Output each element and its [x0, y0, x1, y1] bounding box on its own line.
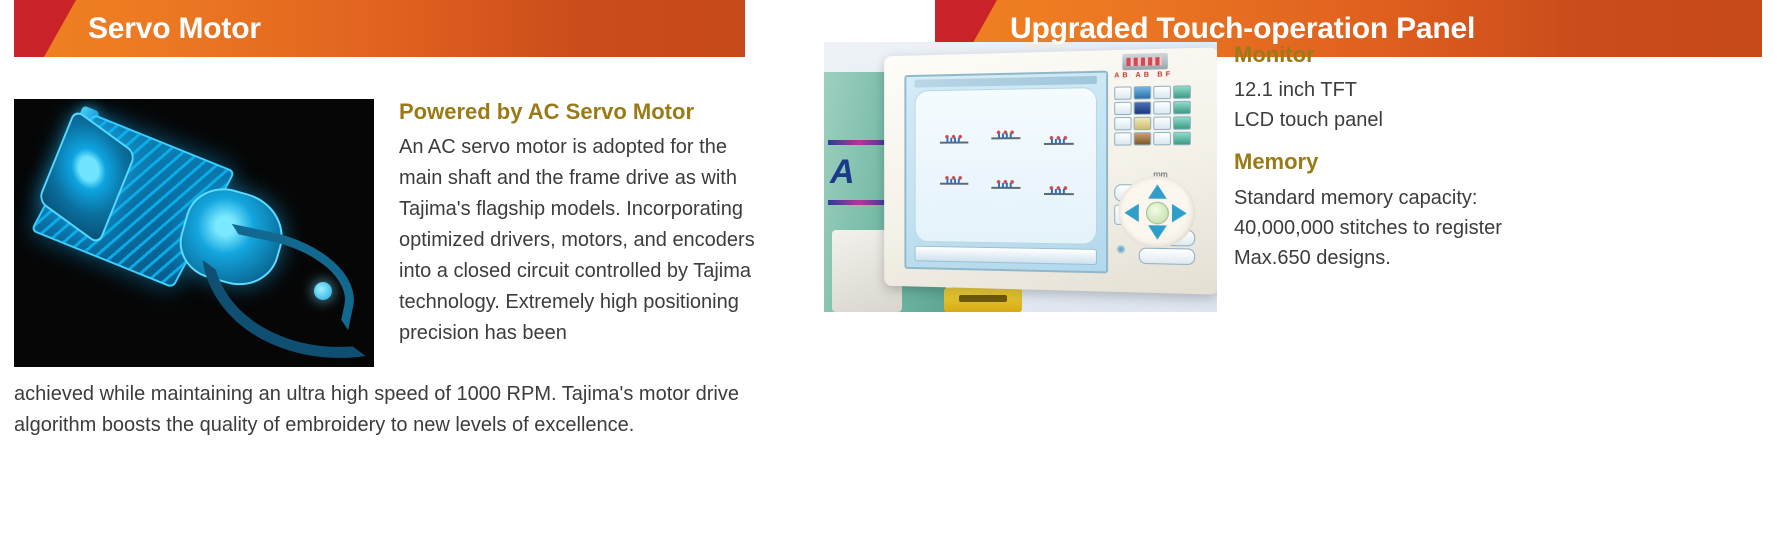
directional-pad[interactable]: [1118, 176, 1195, 248]
keypad-key[interactable]: [1134, 86, 1152, 100]
arrow-up-icon[interactable]: [1148, 184, 1167, 198]
keypad-key[interactable]: [1173, 101, 1191, 115]
snowflake-icon: ✺: [1116, 243, 1125, 256]
screen-stitch-icon: [991, 129, 1020, 145]
keypad-key[interactable]: [1173, 132, 1191, 146]
servo-motor-wrapped-paragraph: An AC servo motor is adopted for the mai…: [399, 132, 759, 349]
screen-status-bar: [915, 246, 1097, 265]
screen-stitch-icon: [1044, 135, 1074, 151]
servo-motor-heading: Powered by AC Servo Motor: [399, 99, 759, 124]
screen-stitch-icon: [1044, 185, 1074, 201]
machine-stripe-top: [828, 140, 890, 145]
keypad-key[interactable]: [1114, 102, 1131, 115]
banner-title-servo-motor: Servo Motor: [88, 0, 261, 57]
keypad-key[interactable]: [1134, 132, 1152, 145]
arrow-left-icon[interactable]: [1124, 204, 1138, 222]
spec-value-monitor-line-1: 12.1 inch TFT: [1234, 75, 1654, 105]
servo-motor-full-width-paragraph: achieved while maintaining an ultra high…: [14, 379, 774, 441]
spec-group-memory: Memory Standard memory capacity: 40,000,…: [1234, 149, 1654, 272]
spec-value-monitor-line-2: LCD touch panel: [1234, 105, 1654, 135]
arrow-down-icon[interactable]: [1148, 225, 1167, 240]
screen-stitch-icon: [940, 175, 968, 191]
motor-cable-loop-shape: [203, 239, 366, 367]
operation-panel-housing: AB AB BF: [884, 47, 1217, 294]
machine-stripe-bottom: [828, 200, 890, 205]
banner-notch-shape: [14, 0, 76, 57]
screen-title-bar: [915, 76, 1097, 88]
spec-value-memory-line-3: Max.650 designs.: [1234, 243, 1654, 273]
section-servo-motor: Servo Motor Powered by AC Servo Motor An…: [0, 0, 790, 57]
keypad-key[interactable]: [1134, 101, 1152, 115]
spec-label-memory: Memory: [1234, 149, 1654, 174]
servo-motor-image: [14, 99, 374, 367]
keypad-key[interactable]: [1153, 101, 1171, 115]
screen-stitch-icon: [991, 179, 1020, 195]
keypad-key[interactable]: [1153, 116, 1171, 130]
screen-stitch-icon: [940, 134, 968, 150]
panel-function-button[interactable]: [1139, 248, 1195, 265]
keypad-key[interactable]: [1173, 85, 1191, 99]
spec-value-memory-line-2: 40,000,000 stitches to register: [1234, 213, 1654, 243]
foot-pedal-shape: [944, 288, 1022, 312]
keypad-key[interactable]: [1114, 86, 1131, 100]
motor-cable-tip-shape: [314, 282, 332, 300]
keypad-key[interactable]: [1114, 117, 1131, 130]
keypad-key[interactable]: [1134, 117, 1152, 130]
keypad-key[interactable]: [1173, 116, 1191, 130]
keypad-key[interactable]: [1114, 132, 1131, 145]
keypad-button-grid[interactable]: [1114, 85, 1191, 145]
keypad-key[interactable]: [1153, 132, 1171, 145]
touch-panel-image: A: [824, 42, 1217, 312]
touch-panel-spec-list: Monitor 12.1 inch TFT LCD touch panel Me…: [1234, 42, 1654, 273]
section-touch-operation-panel: Upgraded Touch-operation Panel A: [824, 0, 1777, 57]
page-root: Servo Motor Powered by AC Servo Motor An…: [0, 0, 1777, 549]
servo-motor-text-block: Powered by AC Servo Motor An AC servo mo…: [399, 99, 759, 349]
keypad-key[interactable]: [1153, 86, 1171, 100]
banner-title-touch-panel: Upgraded Touch-operation Panel: [1010, 0, 1475, 57]
lcd-touch-screen[interactable]: [904, 71, 1108, 274]
screen-design-canvas[interactable]: [915, 87, 1097, 245]
spec-value-memory-line-1: Standard memory capacity:: [1234, 183, 1654, 213]
keypad-legend-label: AB AB BF: [1114, 71, 1173, 79]
banner-servo-motor: Servo Motor: [14, 0, 745, 57]
arrow-right-icon[interactable]: [1172, 204, 1187, 223]
dpad-center-button[interactable]: [1146, 202, 1169, 225]
